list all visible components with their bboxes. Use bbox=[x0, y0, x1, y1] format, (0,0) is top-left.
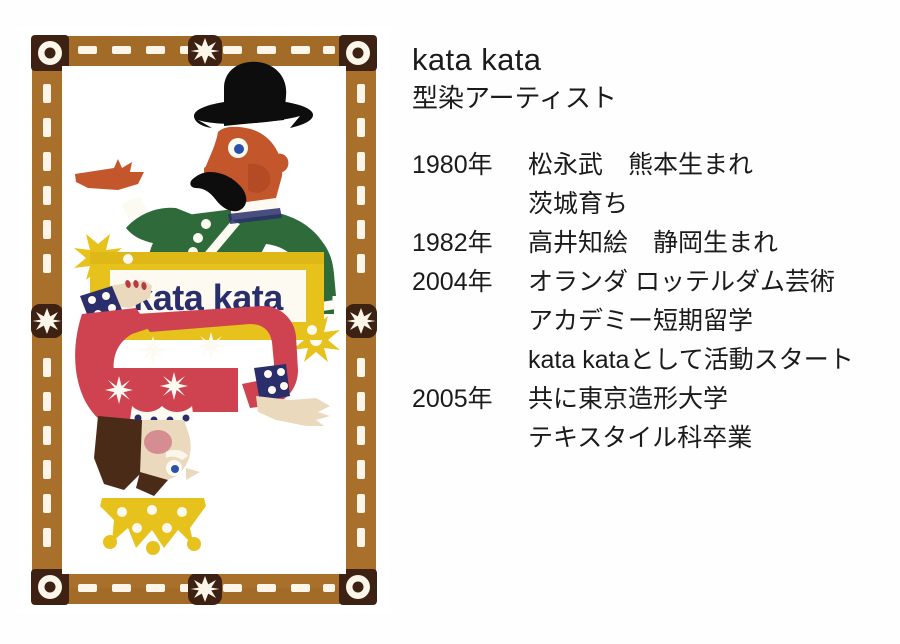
frame-star-right bbox=[345, 304, 377, 338]
frame-corner-top-left bbox=[31, 35, 69, 71]
frame-corner-top-right bbox=[339, 35, 377, 71]
crown-foot-right bbox=[187, 537, 201, 551]
banner-dot-2 bbox=[307, 325, 317, 335]
eye-iris bbox=[234, 144, 244, 154]
bio-text: 高井知絵 静岡生まれ bbox=[528, 224, 778, 263]
frame-star-left bbox=[31, 304, 63, 338]
frame-star-bottom bbox=[188, 573, 222, 605]
frame-corner-bottom-left bbox=[31, 569, 69, 605]
bio-row: 2004年 オランダ ロッテルダム芸術 bbox=[412, 263, 890, 302]
artist-profile: kata kata 型染アーティスト 1980年 松永武 熊本生まれ 茨城育ち … bbox=[412, 40, 890, 458]
bio-row: アカデミー短期留学 bbox=[412, 302, 890, 341]
bio-text: テキスタイル科卒業 bbox=[528, 419, 752, 458]
bio-text: 茨城育ち bbox=[528, 185, 628, 224]
bio-text: kata kataとして活動スタート bbox=[528, 341, 854, 380]
bio-text: 共に東京造形大学 bbox=[528, 380, 728, 419]
artist-role: 型染アーティスト bbox=[412, 80, 890, 117]
bio-year: 1980年 bbox=[412, 146, 528, 185]
bio-row: kata kataとして活動スタート bbox=[412, 341, 890, 380]
artist-name: kata kata bbox=[412, 40, 890, 80]
lower-eye-iris bbox=[171, 465, 179, 473]
bio-year: 2004年 bbox=[412, 263, 528, 302]
bio-row: 1980年 松永武 熊本生まれ bbox=[412, 146, 890, 185]
bio-text: オランダ ロッテルダム芸術 bbox=[528, 263, 835, 302]
frame-corner-bottom-right bbox=[339, 569, 377, 605]
lower-cheek bbox=[144, 430, 172, 454]
crown-foot-left bbox=[103, 535, 117, 549]
bio-row: 茨城育ち bbox=[412, 185, 890, 224]
biography-list: 1980年 松永武 熊本生まれ 茨城育ち 1982年 高井知絵 静岡生まれ 20… bbox=[412, 146, 890, 458]
profile-page: kata kata bbox=[0, 0, 900, 644]
bio-year: 1982年 bbox=[412, 224, 528, 263]
banner-dot-1 bbox=[123, 254, 133, 264]
bio-year: 2005年 bbox=[412, 380, 528, 419]
bio-text: アカデミー短期留学 bbox=[528, 302, 753, 341]
frame-star-top bbox=[188, 35, 222, 67]
bio-row: 1982年 高井知絵 静岡生まれ bbox=[412, 224, 890, 263]
bio-row: テキスタイル科卒業 bbox=[412, 419, 890, 458]
kata-kata-illustration: kata kata bbox=[18, 28, 390, 612]
crown-foot-center bbox=[146, 541, 160, 555]
bio-row: 2005年 共に東京造形大学 bbox=[412, 380, 890, 419]
bio-text: 松永武 熊本生まれ bbox=[528, 146, 753, 185]
